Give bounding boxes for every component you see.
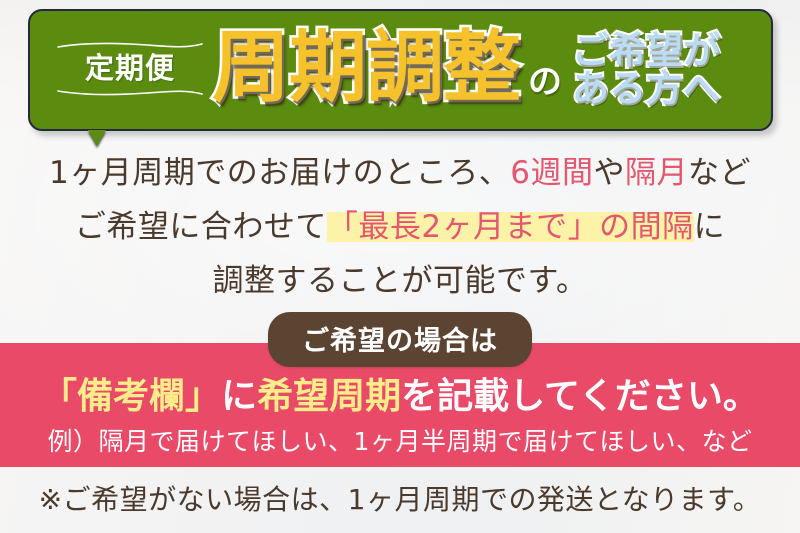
footer-note: ※ご希望がない場合は、1ヶ月周期での発送となります。	[0, 478, 800, 518]
text-run: 調整することが可能です。	[213, 263, 588, 299]
text-run: ご希望に合わせて	[75, 209, 327, 245]
text-run: 希望周期	[257, 376, 401, 417]
speech-tail-icon	[88, 130, 106, 146]
text-run: を記載してください。	[401, 376, 759, 417]
text-run: 隔月	[625, 155, 688, 191]
text-run: に	[221, 376, 257, 417]
text-run: に	[694, 209, 726, 245]
wavy-line-top-icon	[57, 41, 203, 50]
header-subtitle-line-2: ある方へ	[572, 70, 720, 108]
header-plaque: 定期便 周期調整 の ご希望が ある方へ	[28, 9, 773, 131]
header-subtitle-line-1: ご希望が	[572, 32, 720, 70]
text-run: や	[593, 155, 625, 191]
body-copy: 1ヶ月周期でのお届けのところ、6週間や隔月など ご希望に合わせて「最長2ヶ月まで…	[0, 146, 800, 308]
header-plaque-wrapper: 定期便 周期調整 の ご希望が ある方へ	[28, 9, 773, 131]
header-subtitle-block: ご希望が ある方へ	[572, 32, 720, 109]
body-line-3: 調整することが可能です。	[0, 254, 800, 308]
text-run: 「備考欄」	[41, 376, 221, 417]
text-run: 1ヶ月周期でのお届けのところ、	[49, 155, 510, 191]
body-line-1: 1ヶ月周期でのお届けのところ、6週間や隔月など	[0, 146, 800, 200]
pink-band-example: 例）隔月で届けてほしい、1ヶ月半周期で届けてほしい、など	[0, 422, 800, 458]
header-title: 周期調整	[212, 29, 520, 107]
text-run: 6週間	[510, 155, 593, 191]
subscription-badge: 定期便	[54, 36, 206, 103]
request-case-badge: ご希望の場合は	[268, 312, 532, 367]
promo-banner: 定期便 周期調整 の ご希望が ある方へ 1ヶ月周期でのお届けのところ、6週間や…	[0, 0, 800, 533]
wavy-line-bottom-icon	[57, 88, 203, 97]
subscription-badge-label: 定期便	[54, 52, 206, 85]
text-run: など	[688, 155, 751, 191]
header-inner: 定期便 周期調整 の ご希望が ある方へ	[30, 11, 771, 129]
body-line-2: ご希望に合わせて「最長2ヶ月まで」の間隔に	[0, 200, 800, 254]
pink-band-headline: 「備考欄」に希望周期を記載してください。	[0, 367, 800, 419]
text-run: 「最長2ヶ月まで」の間隔	[327, 209, 694, 245]
header-particle: の	[528, 54, 562, 103]
